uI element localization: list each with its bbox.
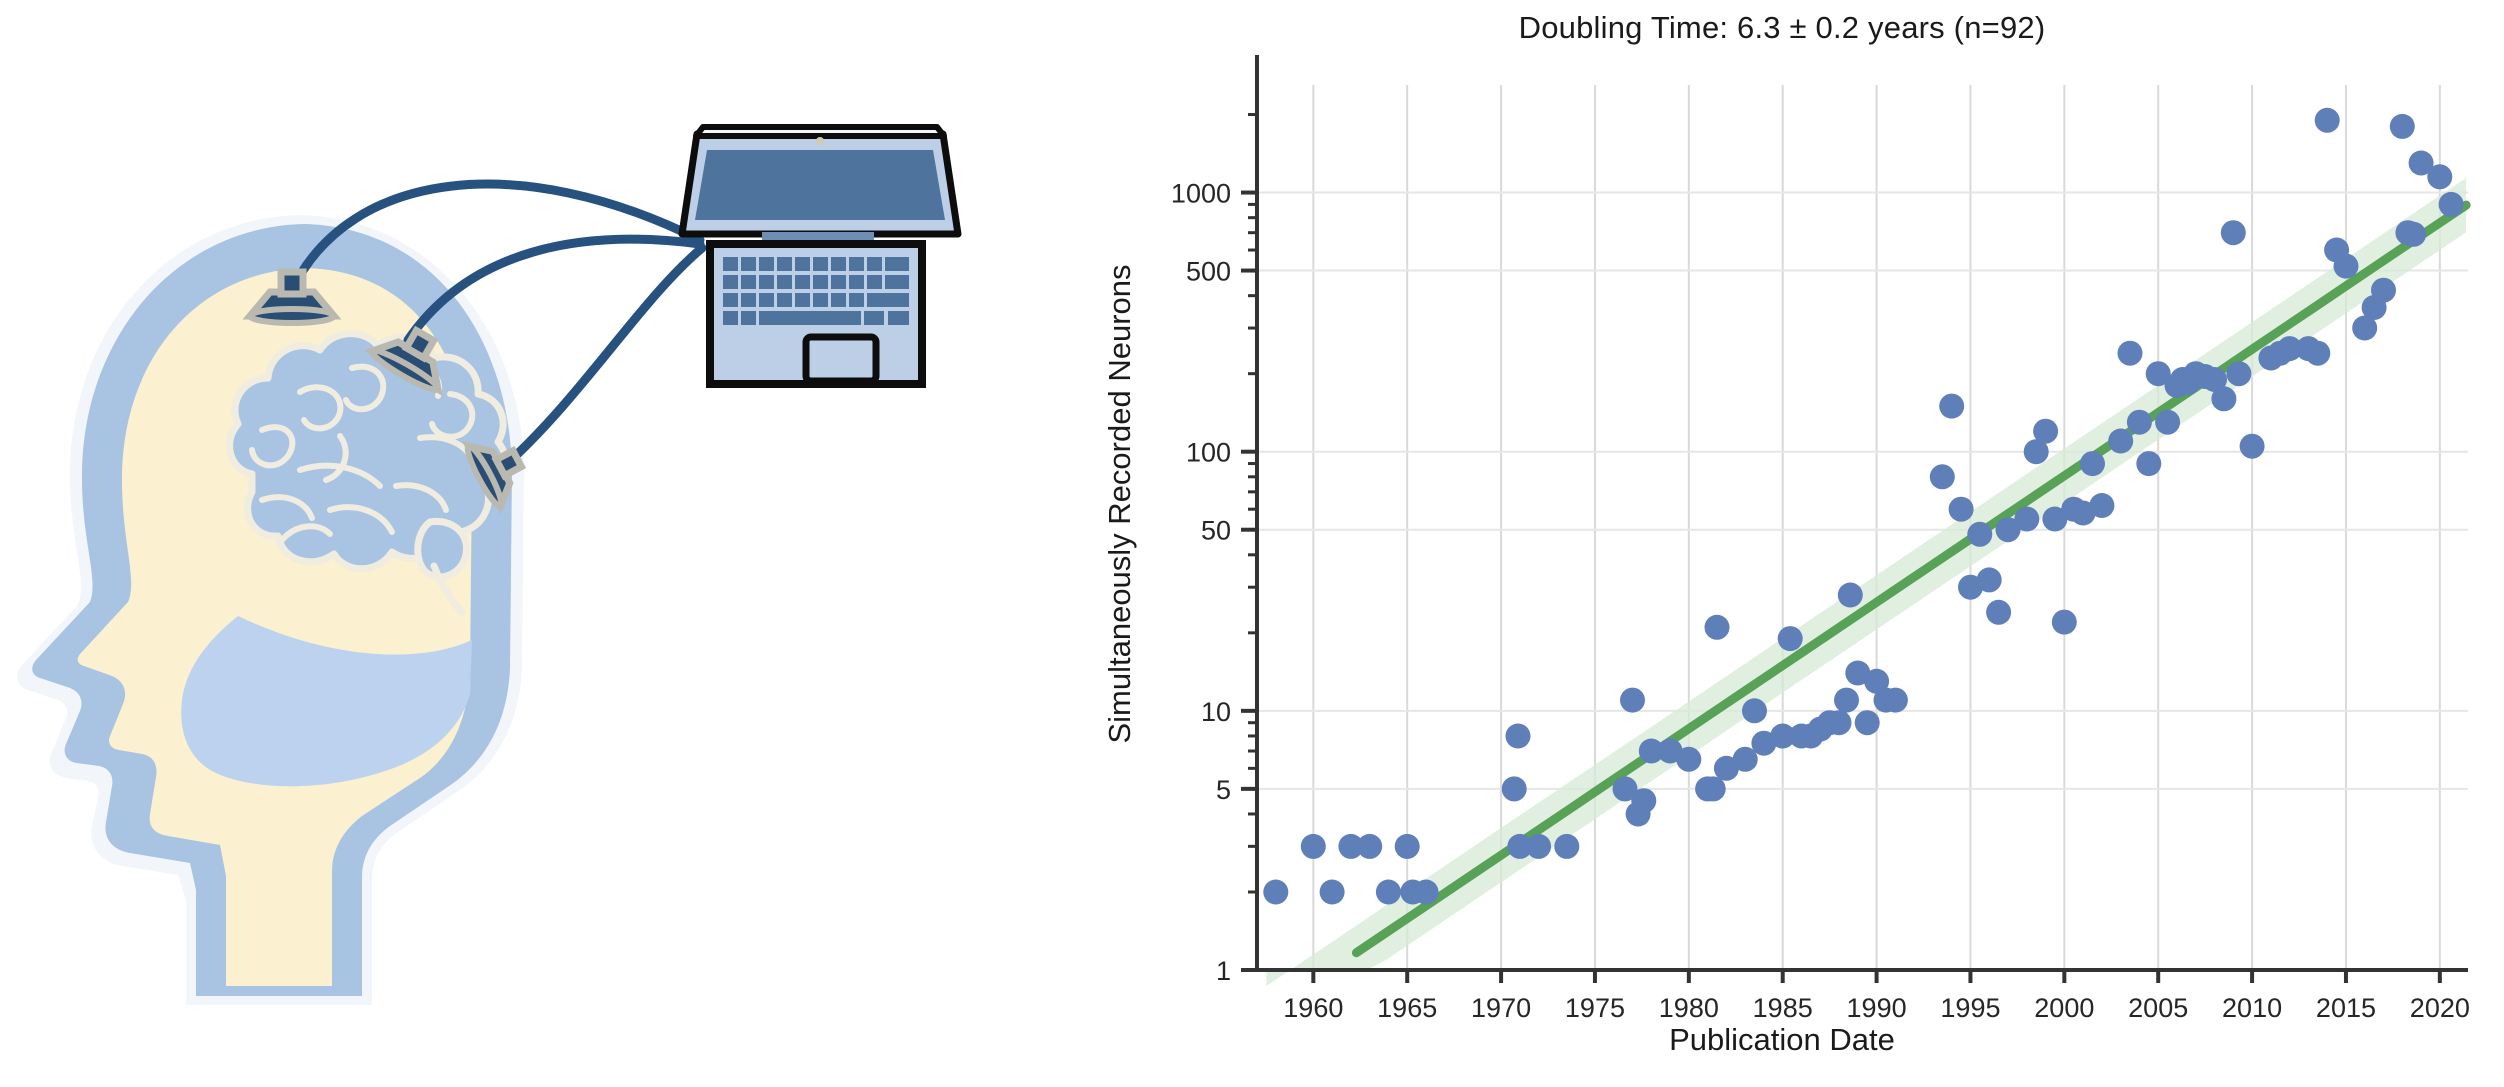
x-tick-label: 2005: [2128, 993, 2188, 1023]
data-point: [2033, 419, 2058, 444]
data-point: [2052, 610, 2077, 635]
data-point: [1263, 880, 1288, 905]
x-tick-label: 2020: [2410, 993, 2470, 1023]
data-point: [1357, 834, 1382, 859]
data-point: [1834, 688, 1859, 713]
data-point: [1676, 747, 1701, 772]
cable: [500, 248, 702, 470]
data-points: [1263, 108, 2463, 905]
laptop: [682, 127, 958, 384]
data-point: [2118, 341, 2143, 366]
data-point: [2371, 278, 2396, 303]
laptop-screen: [695, 150, 945, 220]
y-tick-label: 10: [1201, 697, 1231, 727]
data-point: [1838, 583, 1863, 608]
x-tick-label: 1990: [1847, 993, 1907, 1023]
data-point: [1502, 776, 1527, 801]
data-point: [2390, 114, 2415, 139]
data-point: [1554, 834, 1579, 859]
y-axis-ticks: 1510501005001000: [1171, 115, 1257, 986]
x-tick-label: 1975: [1565, 993, 1625, 1023]
x-axis-ticks: 1960196519701975198019851990199520002005…: [1283, 970, 2470, 1023]
confidence-band: [1266, 178, 2466, 986]
data-point: [2221, 220, 2246, 245]
data-point: [2127, 410, 2152, 435]
x-tick-label: 2015: [2316, 993, 2376, 1023]
data-point: [1414, 880, 1439, 905]
plot-area: 1960196519701975198019851990199520002005…: [1060, 0, 2504, 1082]
data-point: [1827, 710, 1852, 735]
data-point: [1705, 615, 1730, 640]
data-point: [1376, 880, 1401, 905]
x-tick-label: 1985: [1753, 993, 1813, 1023]
grid-lines: [1257, 85, 2468, 970]
data-point: [1395, 834, 1420, 859]
data-point: [1778, 626, 1803, 651]
y-tick-label: 5: [1216, 775, 1231, 805]
data-point: [1620, 688, 1645, 713]
data-point: [1855, 710, 1880, 735]
data-point: [1967, 522, 1992, 547]
data-point: [2211, 386, 2236, 411]
data-point: [2315, 108, 2340, 133]
y-tick-label: 500: [1186, 257, 1231, 287]
data-point: [1301, 834, 1326, 859]
data-point: [2080, 451, 2105, 476]
data-point: [1506, 724, 1531, 749]
x-tick-label: 1965: [1377, 993, 1437, 1023]
x-tick-label: 1960: [1283, 993, 1343, 1023]
data-point: [1742, 698, 1767, 723]
data-point: [1939, 394, 1964, 419]
data-point: [2136, 451, 2161, 476]
data-point: [2108, 429, 2133, 454]
data-point: [1526, 834, 1551, 859]
data-point: [1631, 788, 1656, 813]
data-point: [2240, 434, 2265, 459]
trackpad: [806, 337, 876, 381]
data-point: [2014, 507, 2039, 532]
data-point: [1701, 776, 1726, 801]
webcam-icon: [816, 137, 824, 145]
neuron-recording-scatter-chart: Doubling Time: 6.3 ± 0.2 years (n=92) Si…: [1060, 0, 2504, 1082]
data-point: [1930, 464, 1955, 489]
data-point: [2401, 222, 2426, 247]
x-tick-label: 1995: [1940, 993, 2000, 1023]
data-point: [1320, 880, 1345, 905]
data-point: [2155, 410, 2180, 435]
y-tick-label: 1: [1216, 956, 1231, 986]
data-point: [1986, 600, 2011, 625]
y-tick-label: 50: [1201, 516, 1231, 546]
y-tick-label: 1000: [1171, 179, 1231, 209]
data-point: [1949, 497, 1974, 522]
data-point: [2226, 361, 2251, 386]
figure-root: Doubling Time: 6.3 ± 0.2 years (n=92) Si…: [0, 0, 2504, 1082]
x-tick-label: 2010: [2222, 993, 2282, 1023]
data-point: [1977, 567, 2002, 592]
data-point: [2305, 341, 2330, 366]
data-point: [2439, 192, 2464, 217]
data-point: [2334, 254, 2359, 279]
data-point: [2089, 493, 2114, 518]
data-point: [2427, 164, 2452, 189]
data-point: [1883, 688, 1908, 713]
brain-computer-interface-illustration: [0, 0, 1060, 1082]
x-tick-label: 1970: [1471, 993, 1531, 1023]
x-tick-label: 2000: [2034, 993, 2094, 1023]
x-tick-label: 1980: [1659, 993, 1719, 1023]
y-tick-label: 100: [1186, 438, 1231, 468]
